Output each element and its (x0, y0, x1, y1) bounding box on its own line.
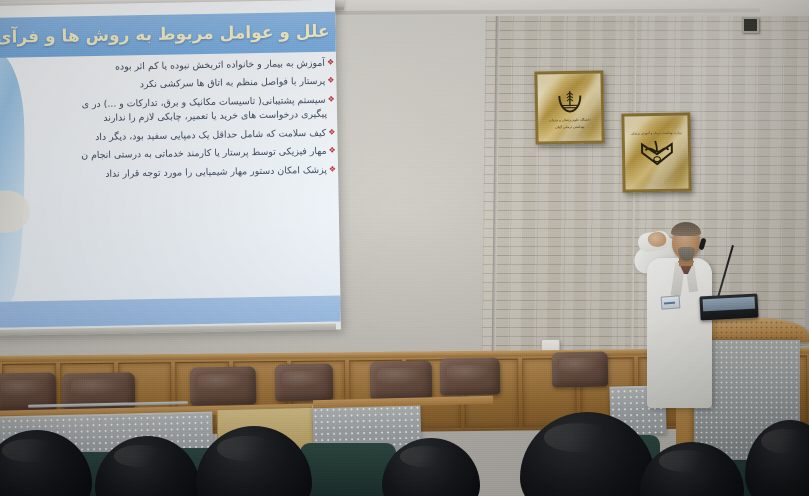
slide-continuation-line: پیگیری درخواست های خرید یا تعمیر، چابکی … (0, 109, 337, 127)
slide-title: علل و عوامل مربوط به روش ها و فرآی (0, 22, 336, 48)
slide-bullet-text: مهار فیزیکی توسط پرستار یا کارمند خدماتی… (81, 146, 327, 162)
slide-bullet-5: ❖ مهار فیزیکی توسط پرستار یا کارمند خدما… (0, 146, 338, 164)
bullet-marker-icon: ❖ (327, 58, 334, 69)
book-water-hands-icon (636, 136, 677, 175)
projection-screen: علل و عوامل مربوط به روش ها و فرآی ❖ آمو… (0, 0, 341, 336)
bullet-marker-icon: ❖ (328, 146, 335, 157)
lecture-hall-photo: علل و عوامل مربوط به روش ها و فرآی ❖ آمو… (0, 0, 809, 496)
seat-back (370, 360, 433, 399)
slide-bullet-text: پزشک امکان دستور مهار شیمیایی را مورد تو… (105, 165, 327, 181)
slide-bullet-1: ❖ آموزش به بیمار و خانواده اثربخش نبوده … (0, 58, 336, 76)
bullet-marker-icon: ❖ (327, 76, 334, 87)
presentation-slide: علل و عوامل مربوط به روش ها و فرآی ❖ آمو… (0, 0, 341, 328)
slide-bullet-2: ❖ پرستار با فواصل منظم به اتاق ها سرکشی … (0, 76, 337, 94)
slide-bullet-text: سیستم پشتیبانی( تاسیسات مکانیک و برق، تد… (82, 95, 326, 111)
seat-back (552, 352, 609, 388)
slide-bullet-6: ❖ پزشک امکان دستور مهار شیمیایی را مورد … (0, 164, 338, 182)
wheat-sheaf-crescent-icon (554, 85, 585, 116)
bullet-marker-icon: ❖ (329, 164, 336, 175)
slide-decoration-accent (0, 190, 30, 233)
slide-bullet-text: پرستار با فواصل منظم به اتاق ها سرکشی نک… (140, 76, 326, 91)
ceiling-motion-sensor-icon (742, 17, 759, 33)
plaque-caption-line1: دانشگاه علوم پزشکی و خدمات (549, 117, 591, 123)
seat-back (440, 357, 501, 395)
slide-bullet-4: ❖ کیف سلامت که شامل حداقل یک دمپایی سفید… (0, 127, 337, 145)
id-badge (661, 295, 681, 309)
seat-back (190, 366, 257, 405)
seat-back (275, 363, 334, 401)
slide-bullet-text: آموزش به بیمار و خانواده اثربخش نبوده یا… (115, 58, 325, 73)
bullet-marker-icon: ❖ (328, 127, 335, 138)
plaque-caption-line2: بهداشتی درمانی گیلان (555, 124, 584, 129)
slide-footer-band (0, 296, 341, 328)
university-emblem-plaque: دانشگاه علوم پزشکی و خدمات بهداشتی درمان… (534, 70, 604, 144)
bullet-marker-icon: ❖ (328, 95, 335, 106)
laptop (699, 293, 758, 320)
slide-body: ❖ آموزش به بیمار و خانواده اثربخش نبوده … (0, 58, 341, 190)
slide-title-bar: علل و عوامل مربوط به روش ها و فرآی (0, 12, 336, 58)
slide-bullet-text: کیف سلامت که شامل حداقل یک دمپایی سفید ب… (95, 128, 326, 144)
ministry-emblem-plaque: وزارت بهداشت، درمان و آموزش پزشکی (621, 112, 691, 192)
